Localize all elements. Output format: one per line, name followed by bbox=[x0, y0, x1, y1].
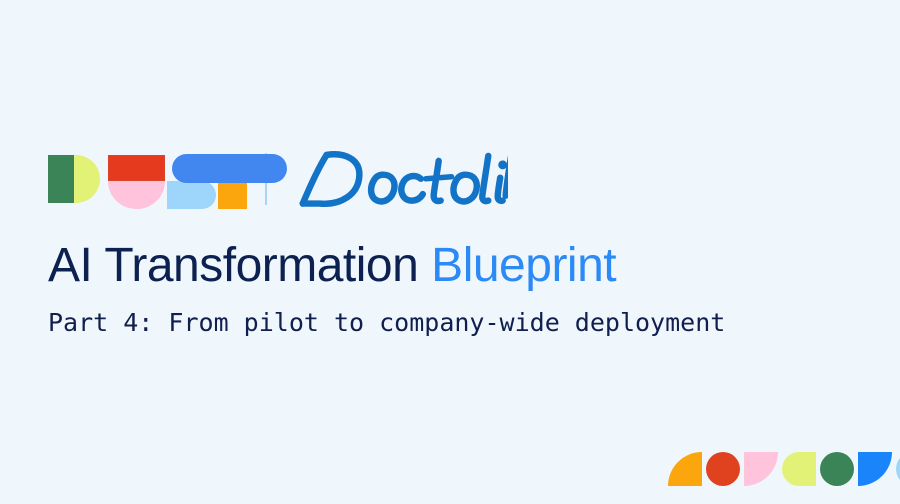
dust-letter-u-rect bbox=[108, 155, 165, 181]
dust-letter-u-half bbox=[108, 181, 165, 209]
logo-lockup bbox=[48, 148, 508, 210]
decorative-shape-strip bbox=[668, 452, 900, 490]
lime-rounded-square-icon bbox=[782, 452, 816, 486]
slide-canvas: AI Transformation Blueprint Part 4: From… bbox=[0, 0, 900, 504]
blue-quarter-circle-icon bbox=[858, 452, 892, 486]
green-circle-icon bbox=[820, 452, 854, 486]
page-subtitle: Part 4: From pilot to company-wide deplo… bbox=[48, 308, 725, 337]
dust-letter-t-bar bbox=[172, 154, 287, 183]
red-circle-icon bbox=[706, 452, 740, 486]
orange-quarter-circle-icon bbox=[668, 452, 702, 486]
doctolib-logo bbox=[293, 148, 508, 210]
page-title: AI Transformation Blueprint bbox=[48, 238, 616, 293]
dust-logo bbox=[48, 149, 231, 209]
dust-letter-t-stem bbox=[218, 183, 247, 209]
dust-letter-s-pill bbox=[167, 181, 216, 209]
page-title-accent: Blueprint bbox=[431, 239, 616, 292]
sky-rounded-square-icon bbox=[896, 452, 900, 486]
dust-letter-d-rect bbox=[48, 155, 74, 203]
dust-letter-d-half bbox=[74, 155, 100, 203]
pink-quarter-circle-icon bbox=[744, 452, 778, 486]
page-title-primary: AI Transformation bbox=[48, 239, 418, 292]
